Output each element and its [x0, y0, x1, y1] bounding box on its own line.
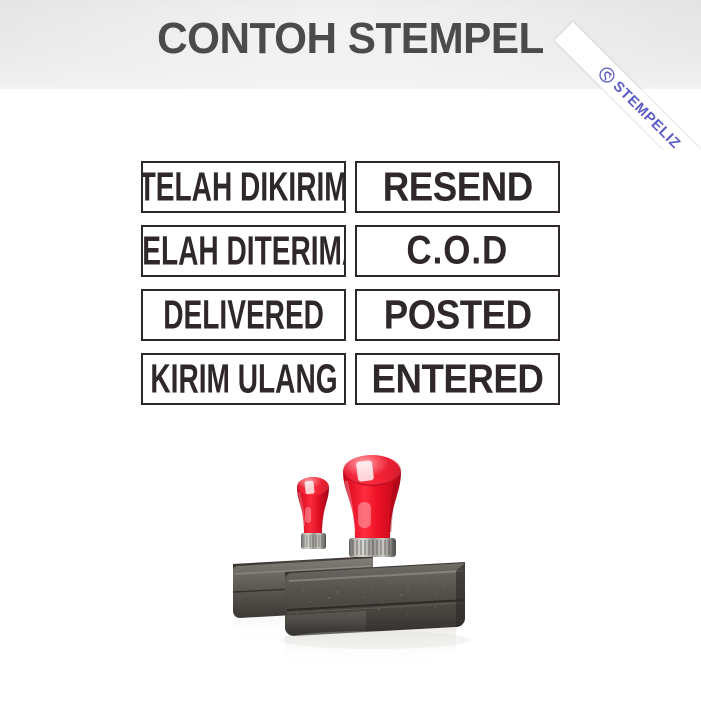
stamp-sample-box: ENTERED — [355, 353, 560, 405]
stamp-sample-label: TELAH DITERIMA — [141, 231, 346, 272]
stamp-sample-label: RESEND — [383, 167, 533, 208]
stamp-sample-box: C.O.D — [355, 225, 560, 277]
stamp-sample-box: RESEND — [355, 161, 560, 213]
stamp-sample-label: KIRIM ULANG — [150, 359, 337, 400]
stamp-sample-label: TELAH DIKIRIM — [141, 167, 346, 208]
stamp-sample-label: DELIVERED — [163, 295, 324, 336]
header-band: CONTOH STEMPEL — [0, 0, 701, 89]
stamp-sample-box: TELAH DIKIRIM — [141, 161, 346, 213]
stamp-sample-box: TELAH DITERIMA — [141, 225, 346, 277]
page-title: CONTOH STEMPEL — [14, 14, 687, 64]
header-divider — [0, 89, 701, 90]
stamp-sample-label: C.O.D — [407, 231, 509, 271]
rubber-stamps-illustration — [225, 440, 480, 675]
stamp-sample-grid: TELAH DIKIRIM RESEND TELAH DITERIMA C.O.… — [141, 161, 560, 405]
product-photo — [225, 440, 480, 675]
stamp-sample-label: ENTERED — [372, 359, 544, 400]
stamp-sample-label: POSTED — [384, 295, 532, 336]
stamp-sample-box: DELIVERED — [141, 289, 346, 341]
stamp-sample-box: KIRIM ULANG — [141, 353, 346, 405]
stamp-sample-box: POSTED — [355, 289, 560, 341]
product-image-canvas: CONTOH STEMPEL STEMPELIZ TELAH DIKIRIM R… — [0, 0, 701, 701]
